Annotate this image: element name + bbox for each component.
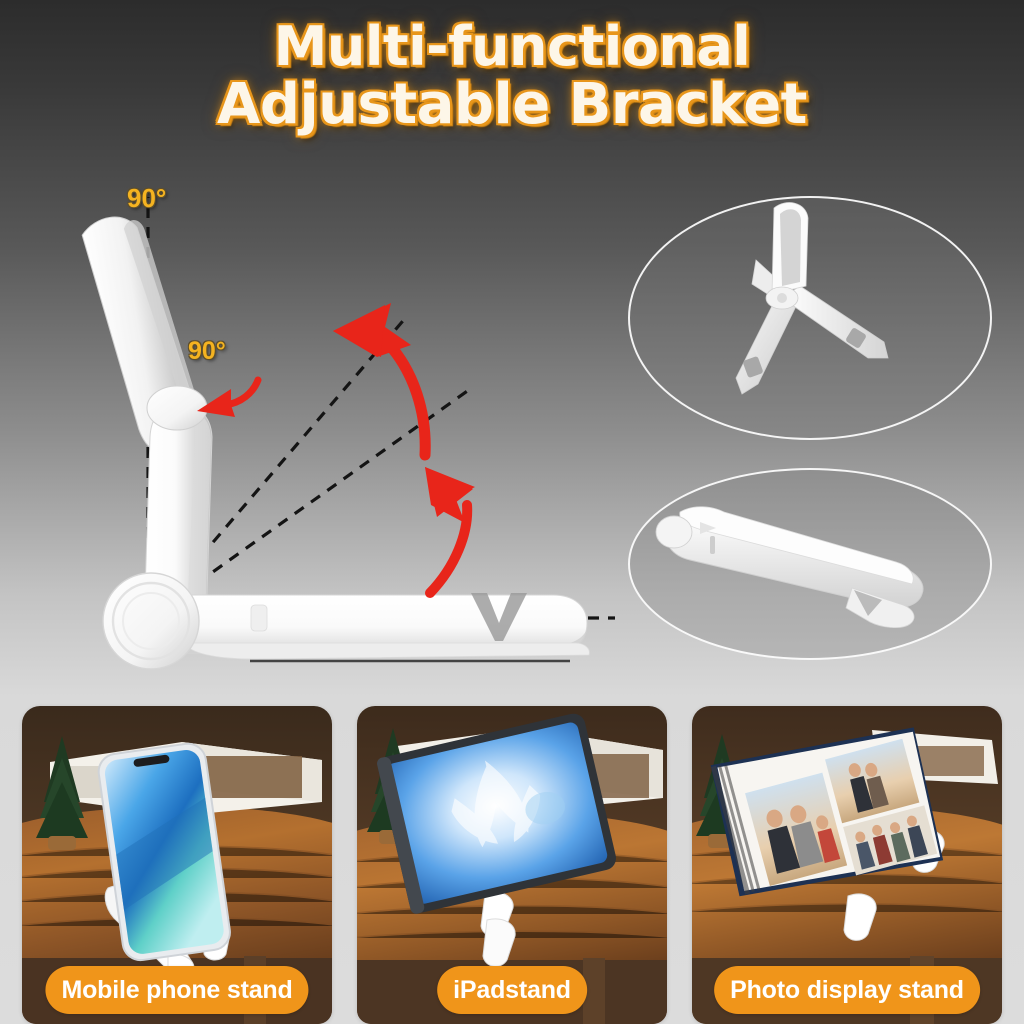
folding-bracket-angle-diagram: 90° 90° bbox=[55, 175, 625, 685]
folded-stand-inset bbox=[628, 468, 992, 660]
lower-hinge-rotate-arrow bbox=[197, 380, 258, 417]
card-label-mobile-phone: Mobile phone stand bbox=[45, 966, 308, 1014]
card-label-photo-display: Photo display stand bbox=[714, 966, 980, 1014]
title-line-1: Multi-functional bbox=[0, 18, 1024, 76]
upper-hinge bbox=[147, 386, 207, 430]
product-infographic: Multi-functional Adjustable Bracket bbox=[0, 0, 1024, 1024]
base-tilt-arrow bbox=[425, 467, 475, 593]
use-case-card-row: Mobile phone stand bbox=[0, 706, 1024, 1024]
card-photo-display[interactable]: Photo display stand bbox=[692, 706, 1002, 1024]
upper-hinge-angle-label: 90° bbox=[127, 183, 166, 214]
card-ipad[interactable]: iPadstand bbox=[357, 706, 667, 1024]
card-label-ipad: iPadstand bbox=[437, 966, 587, 1014]
unfolded-stand-inset bbox=[628, 196, 992, 440]
title-line-2: Adjustable Bracket bbox=[0, 76, 1024, 134]
page-title: Multi-functional Adjustable Bracket bbox=[0, 18, 1024, 134]
pivot-hinge bbox=[103, 573, 199, 669]
lower-hinge-angle-label: 90° bbox=[188, 337, 226, 366]
card-mobile-phone[interactable]: Mobile phone stand bbox=[22, 706, 332, 1024]
